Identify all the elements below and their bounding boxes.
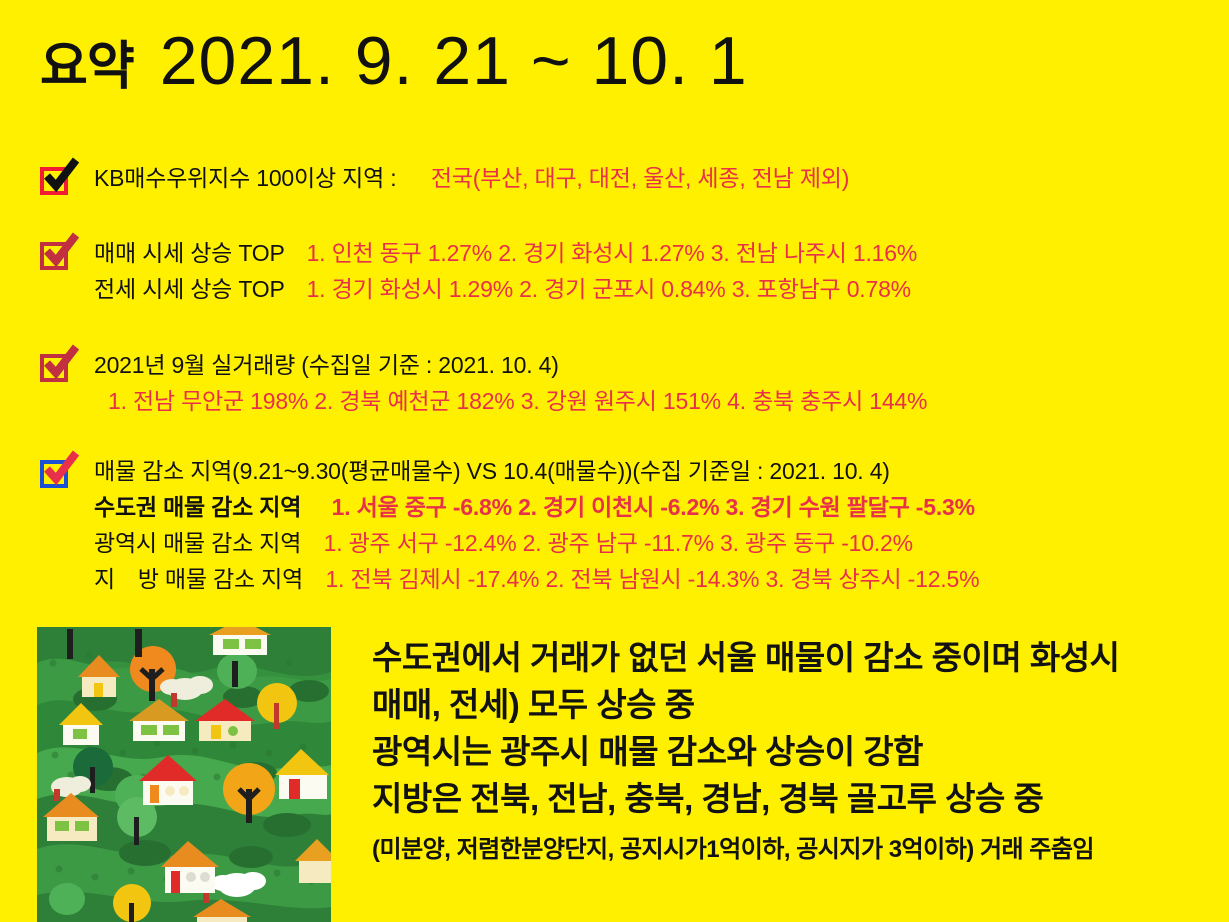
line-metro-city-decrease: 광역시 매물 감소 지역 1. 광주 서구 -12.4% 2. 광주 남구 -1… — [94, 525, 979, 561]
line-metro-city-decrease-label: 광역시 매물 감소 지역 — [94, 530, 301, 556]
summary-text-block: 수도권에서 거래가 없던 서울 매물이 감소 중이며 화성시 매매, 전세) 모… — [372, 634, 1202, 872]
line-province-decrease: 지 방 매물 감소 지역 1. 전북 김제시 -17.4% 2. 전북 남원시 … — [94, 561, 979, 597]
summary-rows: KB매수우위지수 100이상 지역 : 전국(부산, 대구, 대전, 울산, 세… — [0, 160, 1229, 597]
line-sale-price-top-label: 매매 시세 상승 TOP — [94, 240, 284, 266]
checkbox-row-4[interactable] — [40, 456, 80, 492]
summary-row-2: 매매 시세 상승 TOP 1. 인천 동구 1.27% 2. 경기 화성시 1.… — [0, 235, 1229, 307]
line-kb-index-label: KB매수우위지수 100이상 지역 : — [94, 165, 396, 191]
line-capital-area-decrease-value: 1. 서울 중구 -6.8% 2. 경기 이천시 -6.2% 3. 경기 수원 … — [332, 494, 975, 520]
line-transaction-volume-title-label: 2021년 9월 실거래량 (수집일 기준 : 2021. 10. 4) — [94, 352, 559, 378]
page-title-label: 요약 — [40, 24, 134, 99]
village-illustration-svg — [37, 627, 331, 922]
line-metro-city-decrease-value: 1. 광주 서구 -12.4% 2. 광주 남구 -11.7% 3. 광주 동구… — [324, 530, 913, 556]
page-title-date-range: 2021. 9. 21 ~ 10. 1 — [160, 22, 748, 100]
village-hills-illustration — [37, 627, 331, 922]
summary-note: (미분양, 저렴한분양단지, 공지시가1억이하, 공시지가 3억이하) 거래 주… — [372, 828, 1202, 872]
checkbox-row-2[interactable] — [40, 238, 80, 274]
line-kb-index-value: 전국(부산, 대구, 대전, 울산, 세종, 전남 제외) — [431, 165, 849, 191]
line-transaction-volume-ranking: 1. 전남 무안군 198% 2. 경북 예천군 182% 3. 강원 원주시 … — [94, 383, 927, 419]
check-mark-icon — [42, 157, 80, 195]
summary-row-4-lines: 매물 감소 지역(9.21~9.30(평균매물수) VS 10.4(매물수))(… — [94, 453, 979, 597]
summary-row-2-lines: 매매 시세 상승 TOP 1. 인천 동구 1.27% 2. 경기 화성시 1.… — [94, 235, 917, 307]
checkbox-row-1[interactable] — [40, 163, 80, 199]
summary-row-1-lines: KB매수우위지수 100이상 지역 : 전국(부산, 대구, 대전, 울산, 세… — [94, 160, 849, 196]
summary-row-3: 2021년 9월 실거래량 (수집일 기준 : 2021. 10. 4) 1. … — [0, 347, 1229, 419]
summary-line-1: 수도권에서 거래가 없던 서울 매물이 감소 중이며 화성시 — [372, 634, 1202, 681]
line-jeonse-price-top-value: 1. 경기 화성시 1.29% 2. 경기 군포시 0.84% 3. 포항남구 … — [307, 276, 911, 302]
line-capital-area-decrease: 수도권 매물 감소 지역 1. 서울 중구 -6.8% 2. 경기 이천시 -6… — [94, 489, 979, 525]
line-sale-price-top-value: 1. 인천 동구 1.27% 2. 경기 화성시 1.27% 3. 전남 나주시… — [307, 240, 918, 266]
check-mark-icon — [42, 450, 80, 488]
line-sale-price-top: 매매 시세 상승 TOP 1. 인천 동구 1.27% 2. 경기 화성시 1.… — [94, 235, 917, 271]
bottom-section: 수도권에서 거래가 없던 서울 매물이 감소 중이며 화성시 매매, 전세) 모… — [0, 620, 1229, 922]
line-listing-decrease-title-label: 매물 감소 지역(9.21~9.30(평균매물수) VS 10.4(매물수))(… — [94, 458, 890, 484]
line-province-decrease-label: 지 방 매물 감소 지역 — [94, 566, 303, 592]
line-jeonse-price-top: 전세 시세 상승 TOP 1. 경기 화성시 1.29% 2. 경기 군포시 0… — [94, 271, 917, 307]
line-transaction-volume-ranking-value: 1. 전남 무안군 198% 2. 경북 예천군 182% 3. 강원 원주시 … — [108, 388, 927, 414]
checkbox-row-3[interactable] — [40, 350, 80, 386]
summary-line-3: 광역시는 광주시 매물 감소와 상승이 강함 — [372, 728, 1202, 775]
page-header: 요약 2021. 9. 21 ~ 10. 1 — [40, 22, 748, 100]
line-jeonse-price-top-label: 전세 시세 상승 TOP — [94, 276, 284, 302]
line-listing-decrease-title: 매물 감소 지역(9.21~9.30(평균매물수) VS 10.4(매물수))(… — [94, 453, 979, 489]
line-kb-index: KB매수우위지수 100이상 지역 : 전국(부산, 대구, 대전, 울산, 세… — [94, 160, 849, 196]
check-mark-icon — [42, 344, 80, 382]
line-capital-area-decrease-label: 수도권 매물 감소 지역 — [94, 494, 301, 520]
summary-row-4: 매물 감소 지역(9.21~9.30(평균매물수) VS 10.4(매물수))(… — [0, 453, 1229, 597]
summary-line-2: 매매, 전세) 모두 상승 중 — [372, 681, 1202, 728]
line-transaction-volume-title: 2021년 9월 실거래량 (수집일 기준 : 2021. 10. 4) — [94, 347, 927, 383]
line-province-decrease-value: 1. 전북 김제시 -17.4% 2. 전북 남원시 -14.3% 3. 경북 … — [325, 566, 979, 592]
summary-row-1: KB매수우위지수 100이상 지역 : 전국(부산, 대구, 대전, 울산, 세… — [0, 160, 1229, 199]
check-mark-icon — [42, 232, 80, 270]
summary-row-3-lines: 2021년 9월 실거래량 (수집일 기준 : 2021. 10. 4) 1. … — [94, 347, 927, 419]
summary-line-4: 지방은 전북, 전남, 충북, 경남, 경북 골고루 상승 중 — [372, 775, 1202, 822]
